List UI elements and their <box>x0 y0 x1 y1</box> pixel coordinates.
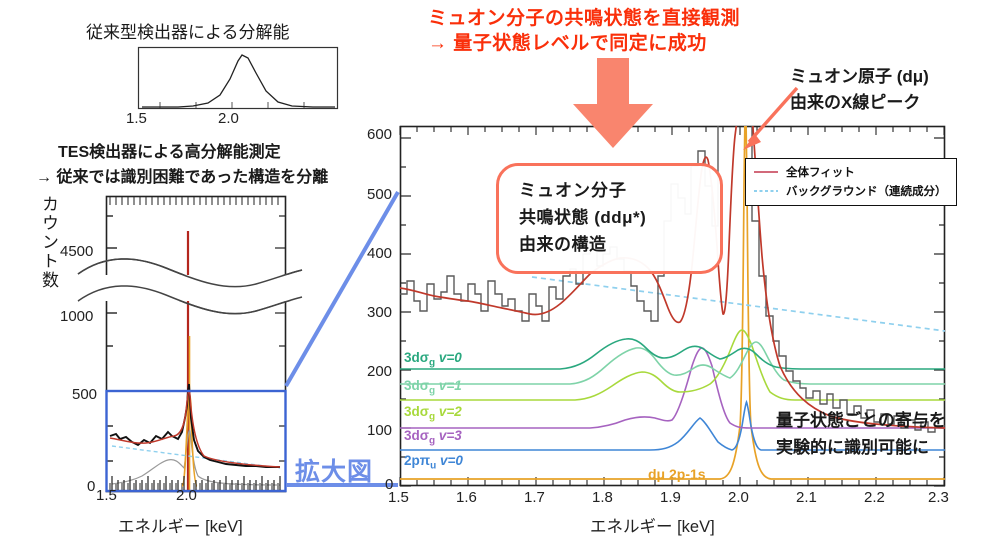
xray-callout-arrow-icon <box>735 80 805 160</box>
curve-label-2ppi-v0: 2pπu v=0 <box>404 453 463 472</box>
tes-ytick-4500: 4500 <box>60 243 93 260</box>
conventional-xtick-1: 1.5 <box>126 110 147 127</box>
zoom-connector <box>280 190 410 490</box>
conventional-resolution-plot <box>138 47 338 109</box>
headline-line2: → 量子状態レベルで同定に成功 <box>428 31 707 56</box>
tes-title-line1: TES検出器による高分解能測定 <box>58 138 281 162</box>
tes-spectrum-plot <box>106 196 286 492</box>
main-xtick-7: 2.1 <box>796 489 817 506</box>
main-ytick-400: 400 <box>367 245 392 262</box>
quantum-callout-line1: 量子状態ごとの寄与を <box>776 406 946 431</box>
resonance-callout-line2: 共鳴状態 (ddμ*) <box>519 203 646 228</box>
tes-ylabel: カウント数 <box>36 195 61 430</box>
down-arrow-icon <box>567 58 659 148</box>
zoom-region-label: 拡大図 <box>295 452 373 488</box>
quantum-callout-line2: 実験的に識別可能に <box>776 433 929 458</box>
legend-swatch-dashed <box>753 187 779 195</box>
legend-item-total-fit: 全体フィット <box>753 164 947 180</box>
tes-xlabel: エネルギー [keV] <box>118 513 243 537</box>
legend-box: 全体フィット バックグラウンド（連続成分） <box>745 158 957 206</box>
legend-label-total-fit: 全体フィット <box>786 164 855 180</box>
legend-label-background: バックグラウンド（連続成分） <box>786 183 947 199</box>
tes-ytick-1000: 1000 <box>60 308 93 325</box>
xray-callout-line1: ミュオン原子 (dμ) <box>790 62 929 87</box>
main-ytick-200: 200 <box>367 363 392 380</box>
curve-label-3dsg-v3: 3dσg v=3 <box>404 428 462 447</box>
main-xtick-4: 1.8 <box>592 489 613 506</box>
xray-callout-line2: 由来のX線ピーク <box>790 88 920 113</box>
resonance-callout-line3: 由来の構造 <box>519 230 607 255</box>
main-ytick-500: 500 <box>367 186 392 203</box>
main-ytick-100: 100 <box>367 422 392 439</box>
main-ytick-600: 600 <box>367 126 392 143</box>
tes-xtick-2: 2.0 <box>176 487 197 504</box>
main-xtick-2: 1.6 <box>456 489 477 506</box>
tes-ytick-500: 500 <box>72 386 97 403</box>
headline-line1: ミュオン分子の共鳴状態を直接観測 <box>428 6 740 31</box>
main-xtick-8: 2.2 <box>864 489 885 506</box>
curve-label-3dsg-v2: 3dσg v=2 <box>404 404 462 423</box>
curve-label-dmu-2p1s: dμ 2p-1s <box>648 466 706 482</box>
tes-title-line2: → 従来では識別困難であった構造を分離 <box>36 163 328 187</box>
main-xtick-3: 1.7 <box>524 489 545 506</box>
main-xtick-9: 2.3 <box>928 489 949 506</box>
main-xtick-1: 1.5 <box>388 489 409 506</box>
tes-ytick-0: 0 <box>87 478 95 495</box>
resonance-callout-line1: ミュオン分子 <box>519 176 627 201</box>
legend-swatch-solid <box>753 168 779 176</box>
conventional-panel-title: 従来型検出器による分解能 <box>86 18 290 43</box>
main-xlabel: エネルギー [keV] <box>590 513 715 537</box>
curve-label-3dsg-v0: 3dσg v=0 <box>404 350 462 369</box>
tes-xtick-1: 1.5 <box>96 487 117 504</box>
main-xtick-5: 1.9 <box>660 489 681 506</box>
conventional-xtick-2: 2.0 <box>218 110 239 127</box>
curve-label-3dsg-v1: 3dσg v=1 <box>404 378 462 397</box>
main-ytick-300: 300 <box>367 304 392 321</box>
main-xtick-6: 2.0 <box>728 489 749 506</box>
legend-item-background: バックグラウンド（連続成分） <box>753 183 947 199</box>
